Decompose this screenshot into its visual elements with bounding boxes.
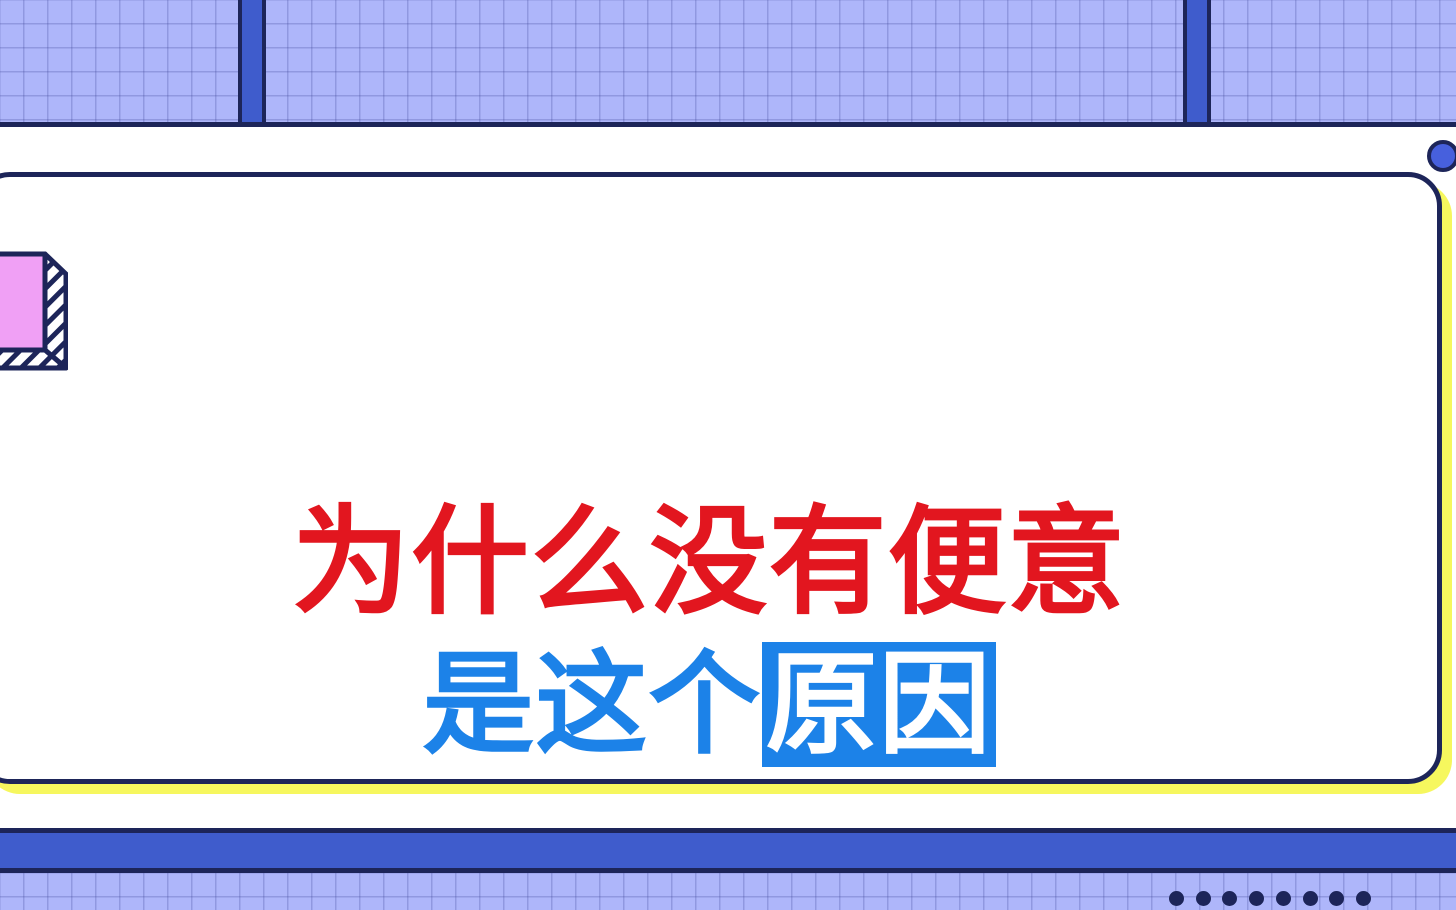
headline-block: 为什么没有便意 是这个原因 (0, 495, 1437, 771)
accent-bar-left (238, 0, 266, 122)
headline-line-1: 为什么没有便意 (0, 495, 1437, 631)
dot (1249, 891, 1264, 906)
dot (1303, 891, 1318, 906)
corner-knob-circle (1427, 140, 1456, 172)
isometric-cube (0, 238, 68, 384)
dot (1222, 891, 1237, 906)
dot (1276, 891, 1291, 906)
bottom-blue-strip (0, 828, 1456, 873)
headline-line-2-highlight: 原因 (762, 642, 996, 767)
dot-grid-decoration (1163, 887, 1377, 910)
top-grid-background (0, 0, 1456, 127)
content-card: 为什么没有便意 是这个原因 (0, 172, 1442, 784)
dot (1169, 891, 1184, 906)
dot (1196, 891, 1211, 906)
headline-line-2-plain: 是这个 (422, 642, 761, 767)
dot (1329, 891, 1344, 906)
isometric-cube-icon (0, 238, 68, 384)
dot (1356, 891, 1371, 906)
slide-canvas: 为什么没有便意 是这个原因 (0, 0, 1456, 910)
accent-bar-right (1183, 0, 1211, 122)
headline-line-2: 是这个原因 (0, 639, 1437, 771)
